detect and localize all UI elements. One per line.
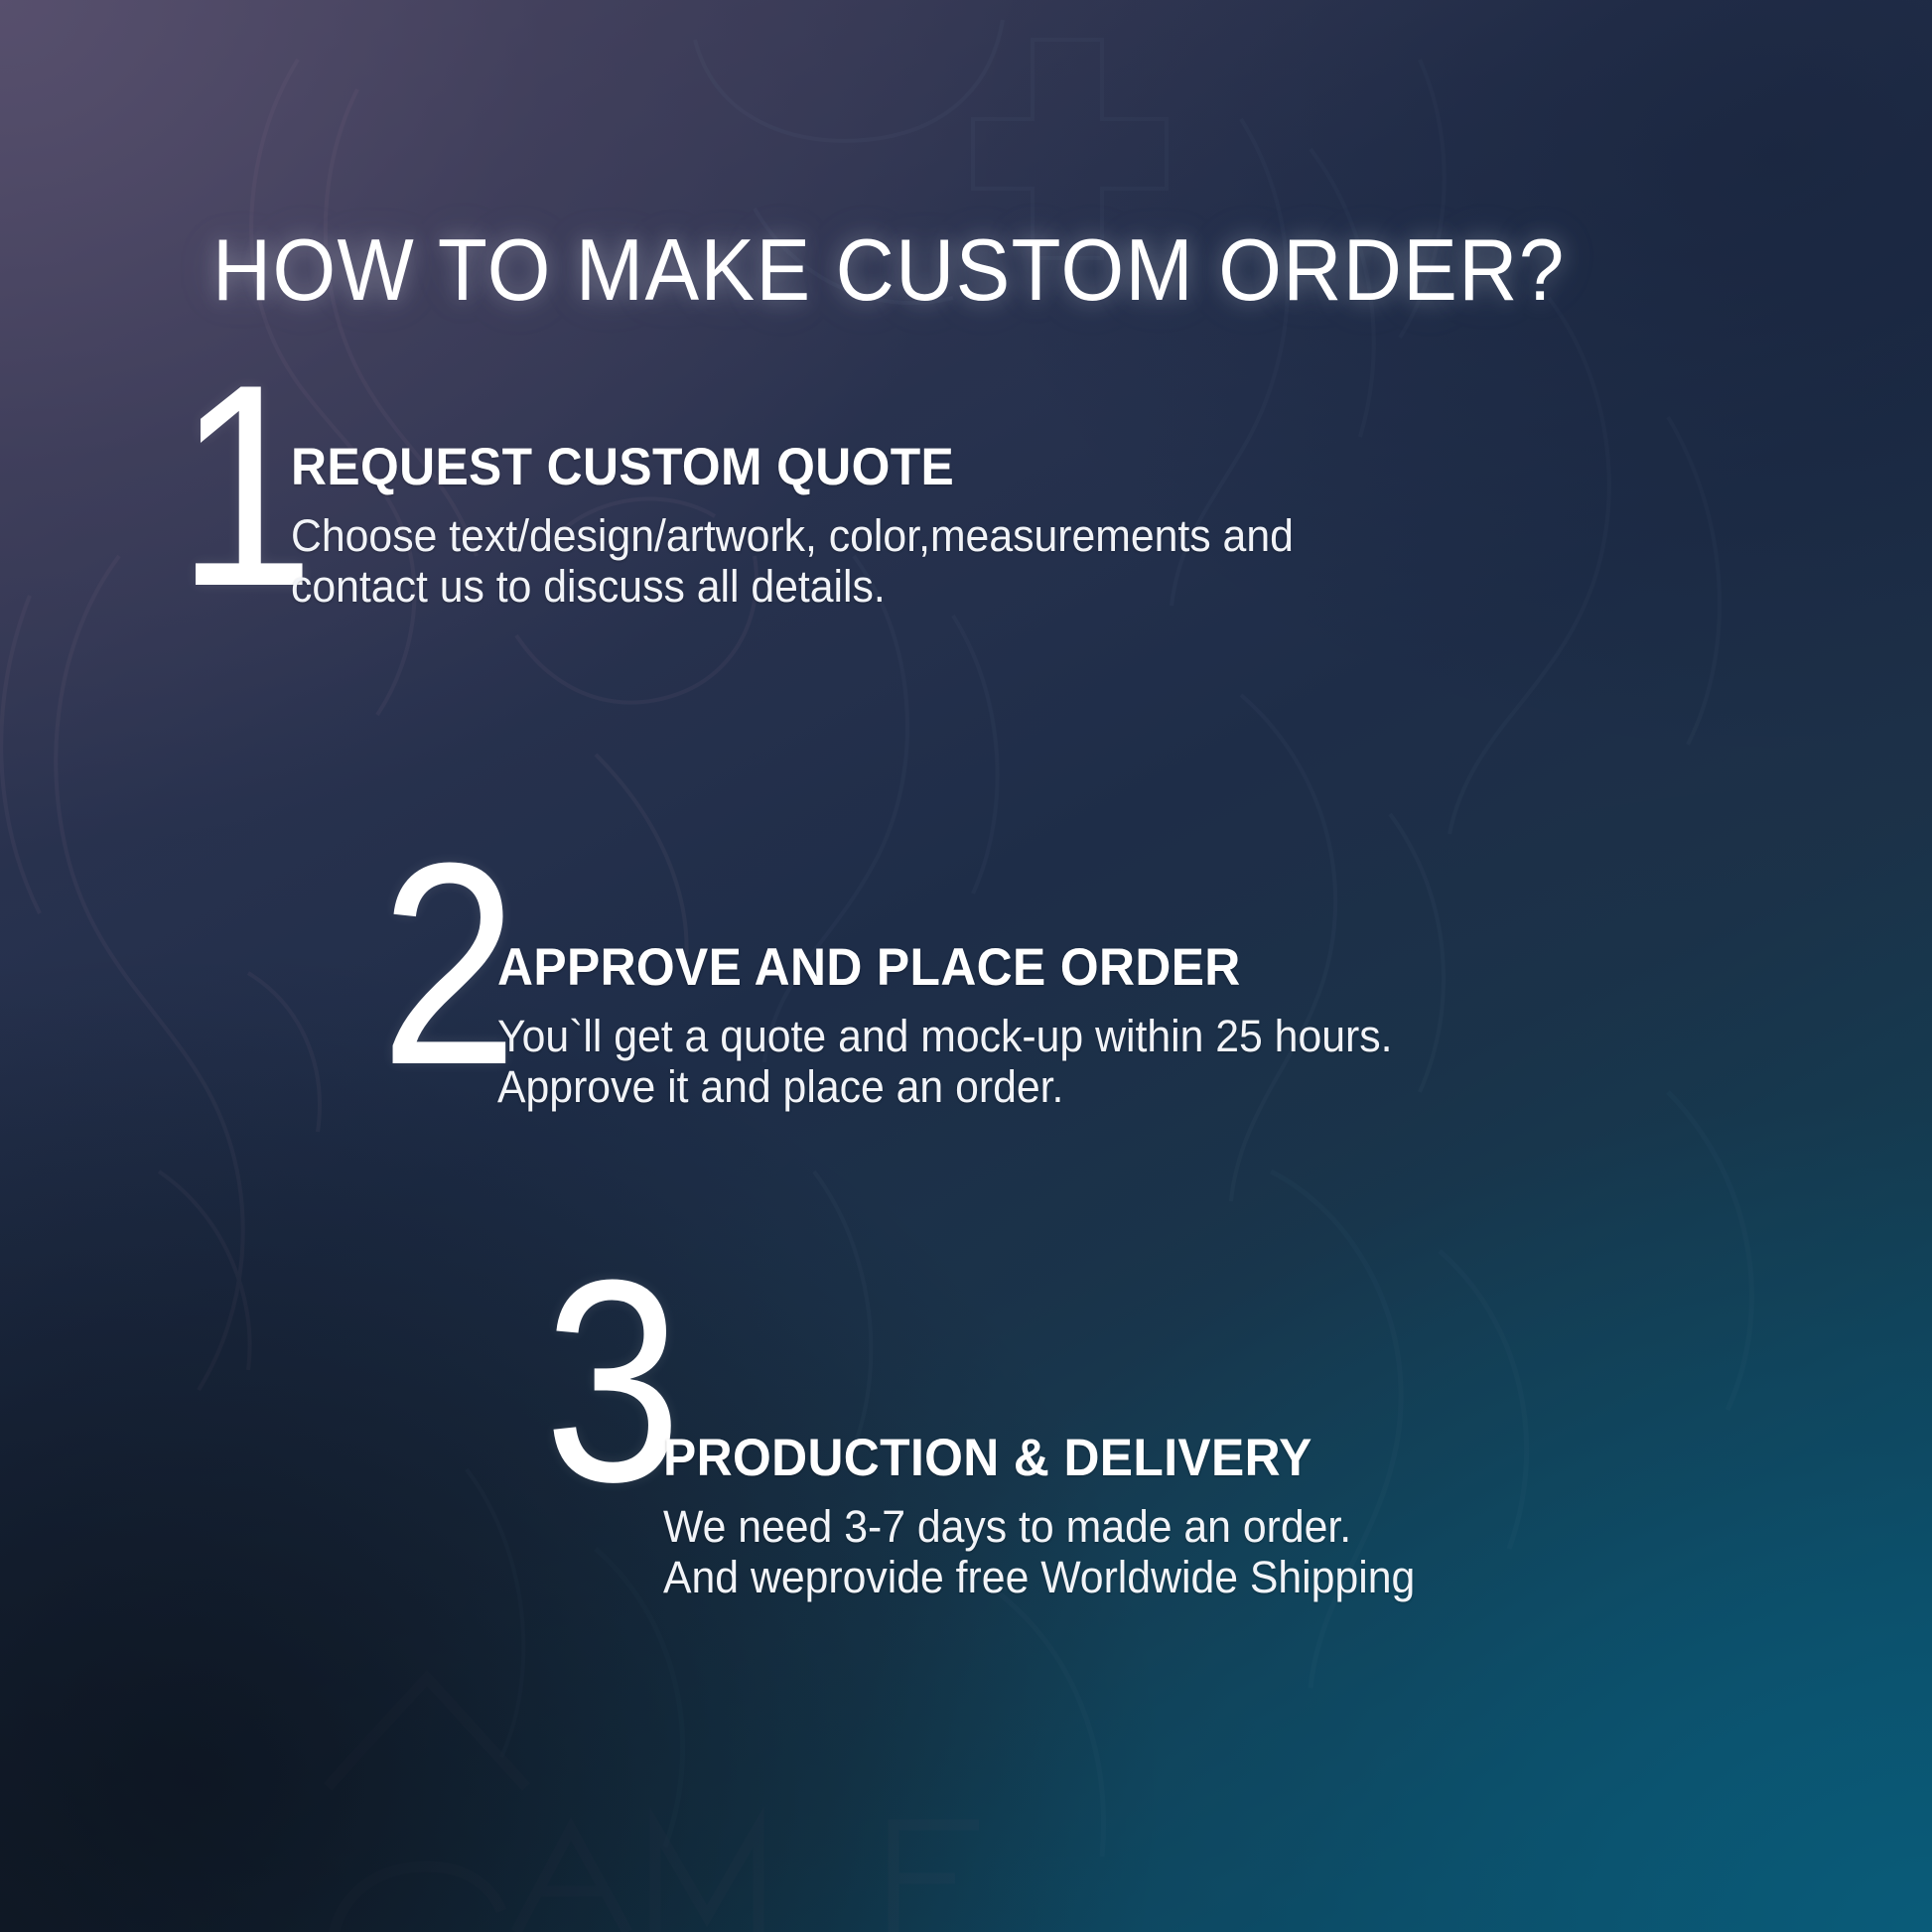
step-description-3-line-2: And weprovide free Worldwide Shipping — [663, 1553, 1415, 1603]
poster-content: HOW TO MAKE CUSTOM ORDER? 1 REQUEST CUST… — [0, 0, 1932, 1932]
step-description-3-line-1: We need 3-7 days to made an order. — [663, 1502, 1415, 1553]
step-description-2: You`ll get a quote and mock-up within 25… — [497, 1012, 1392, 1113]
step-item-2: 2 APPROVE AND PLACE ORDER You`ll get a q… — [380, 894, 1440, 1113]
step-heading-3: PRODUCTION & DELIVERY — [663, 1432, 1407, 1484]
step-body-1: REQUEST CUSTOM QUOTE Choose text/design/… — [291, 415, 1346, 613]
page-title: HOW TO MAKE CUSTOM ORDER? — [212, 226, 1566, 314]
poster-canvas: HOW TO MAKE CUSTOM ORDER? 1 REQUEST CUST… — [0, 0, 1932, 1932]
step-body-3: PRODUCTION & DELIVERY We need 3-7 days t… — [663, 1311, 1454, 1603]
step-heading-1: REQUEST CUSTOM QUOTE — [291, 441, 1283, 493]
step-description-2-line-2: Approve it and place an order. — [497, 1062, 1392, 1113]
step-description-2-line-1: You`ll get a quote and mock-up within 25… — [497, 1012, 1392, 1062]
step-item-3: 3 PRODUCTION & DELIVERY We need 3-7 days… — [544, 1311, 1454, 1603]
step-number-3: 3 — [544, 1293, 646, 1471]
step-body-2: APPROVE AND PLACE ORDER You`ll get a quo… — [497, 894, 1440, 1113]
step-description-1-line-2: contact us to discuss all details. — [291, 562, 1294, 613]
step-description-1: Choose text/design/artwork, color,measur… — [291, 511, 1294, 613]
step-description-3: We need 3-7 days to made an order. And w… — [663, 1502, 1415, 1603]
step-heading-2: APPROVE AND PLACE ORDER — [497, 941, 1383, 994]
step-number-2: 2 — [380, 876, 481, 1054]
step-number-1: 1 — [177, 397, 275, 576]
step-item-1: 1 REQUEST CUSTOM QUOTE Choose text/desig… — [177, 415, 1346, 613]
step-description-1-line-1: Choose text/design/artwork, color,measur… — [291, 511, 1294, 562]
